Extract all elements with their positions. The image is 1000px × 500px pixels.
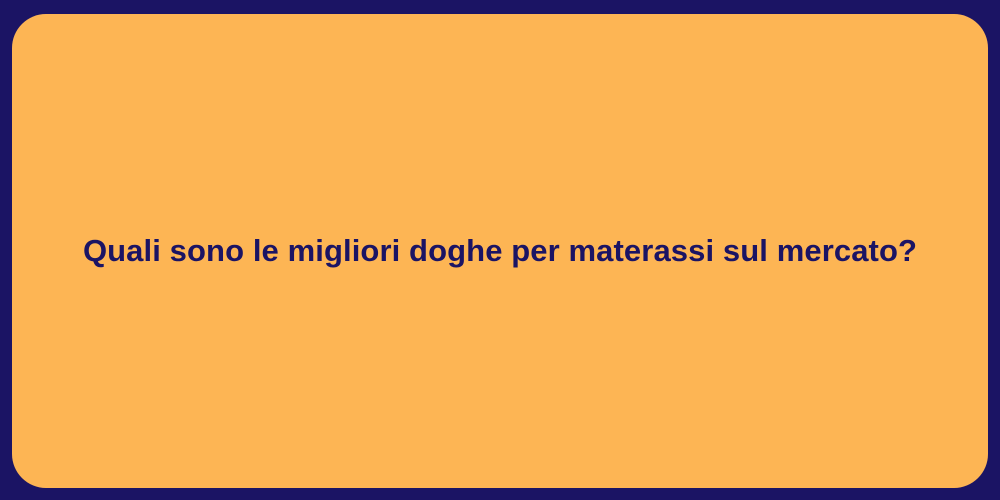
page-frame: Quali sono le migliori doghe per materas… — [0, 0, 1000, 500]
question-card: Quali sono le migliori doghe per materas… — [12, 14, 988, 488]
card-headline: Quali sono le migliori doghe per materas… — [43, 232, 957, 271]
